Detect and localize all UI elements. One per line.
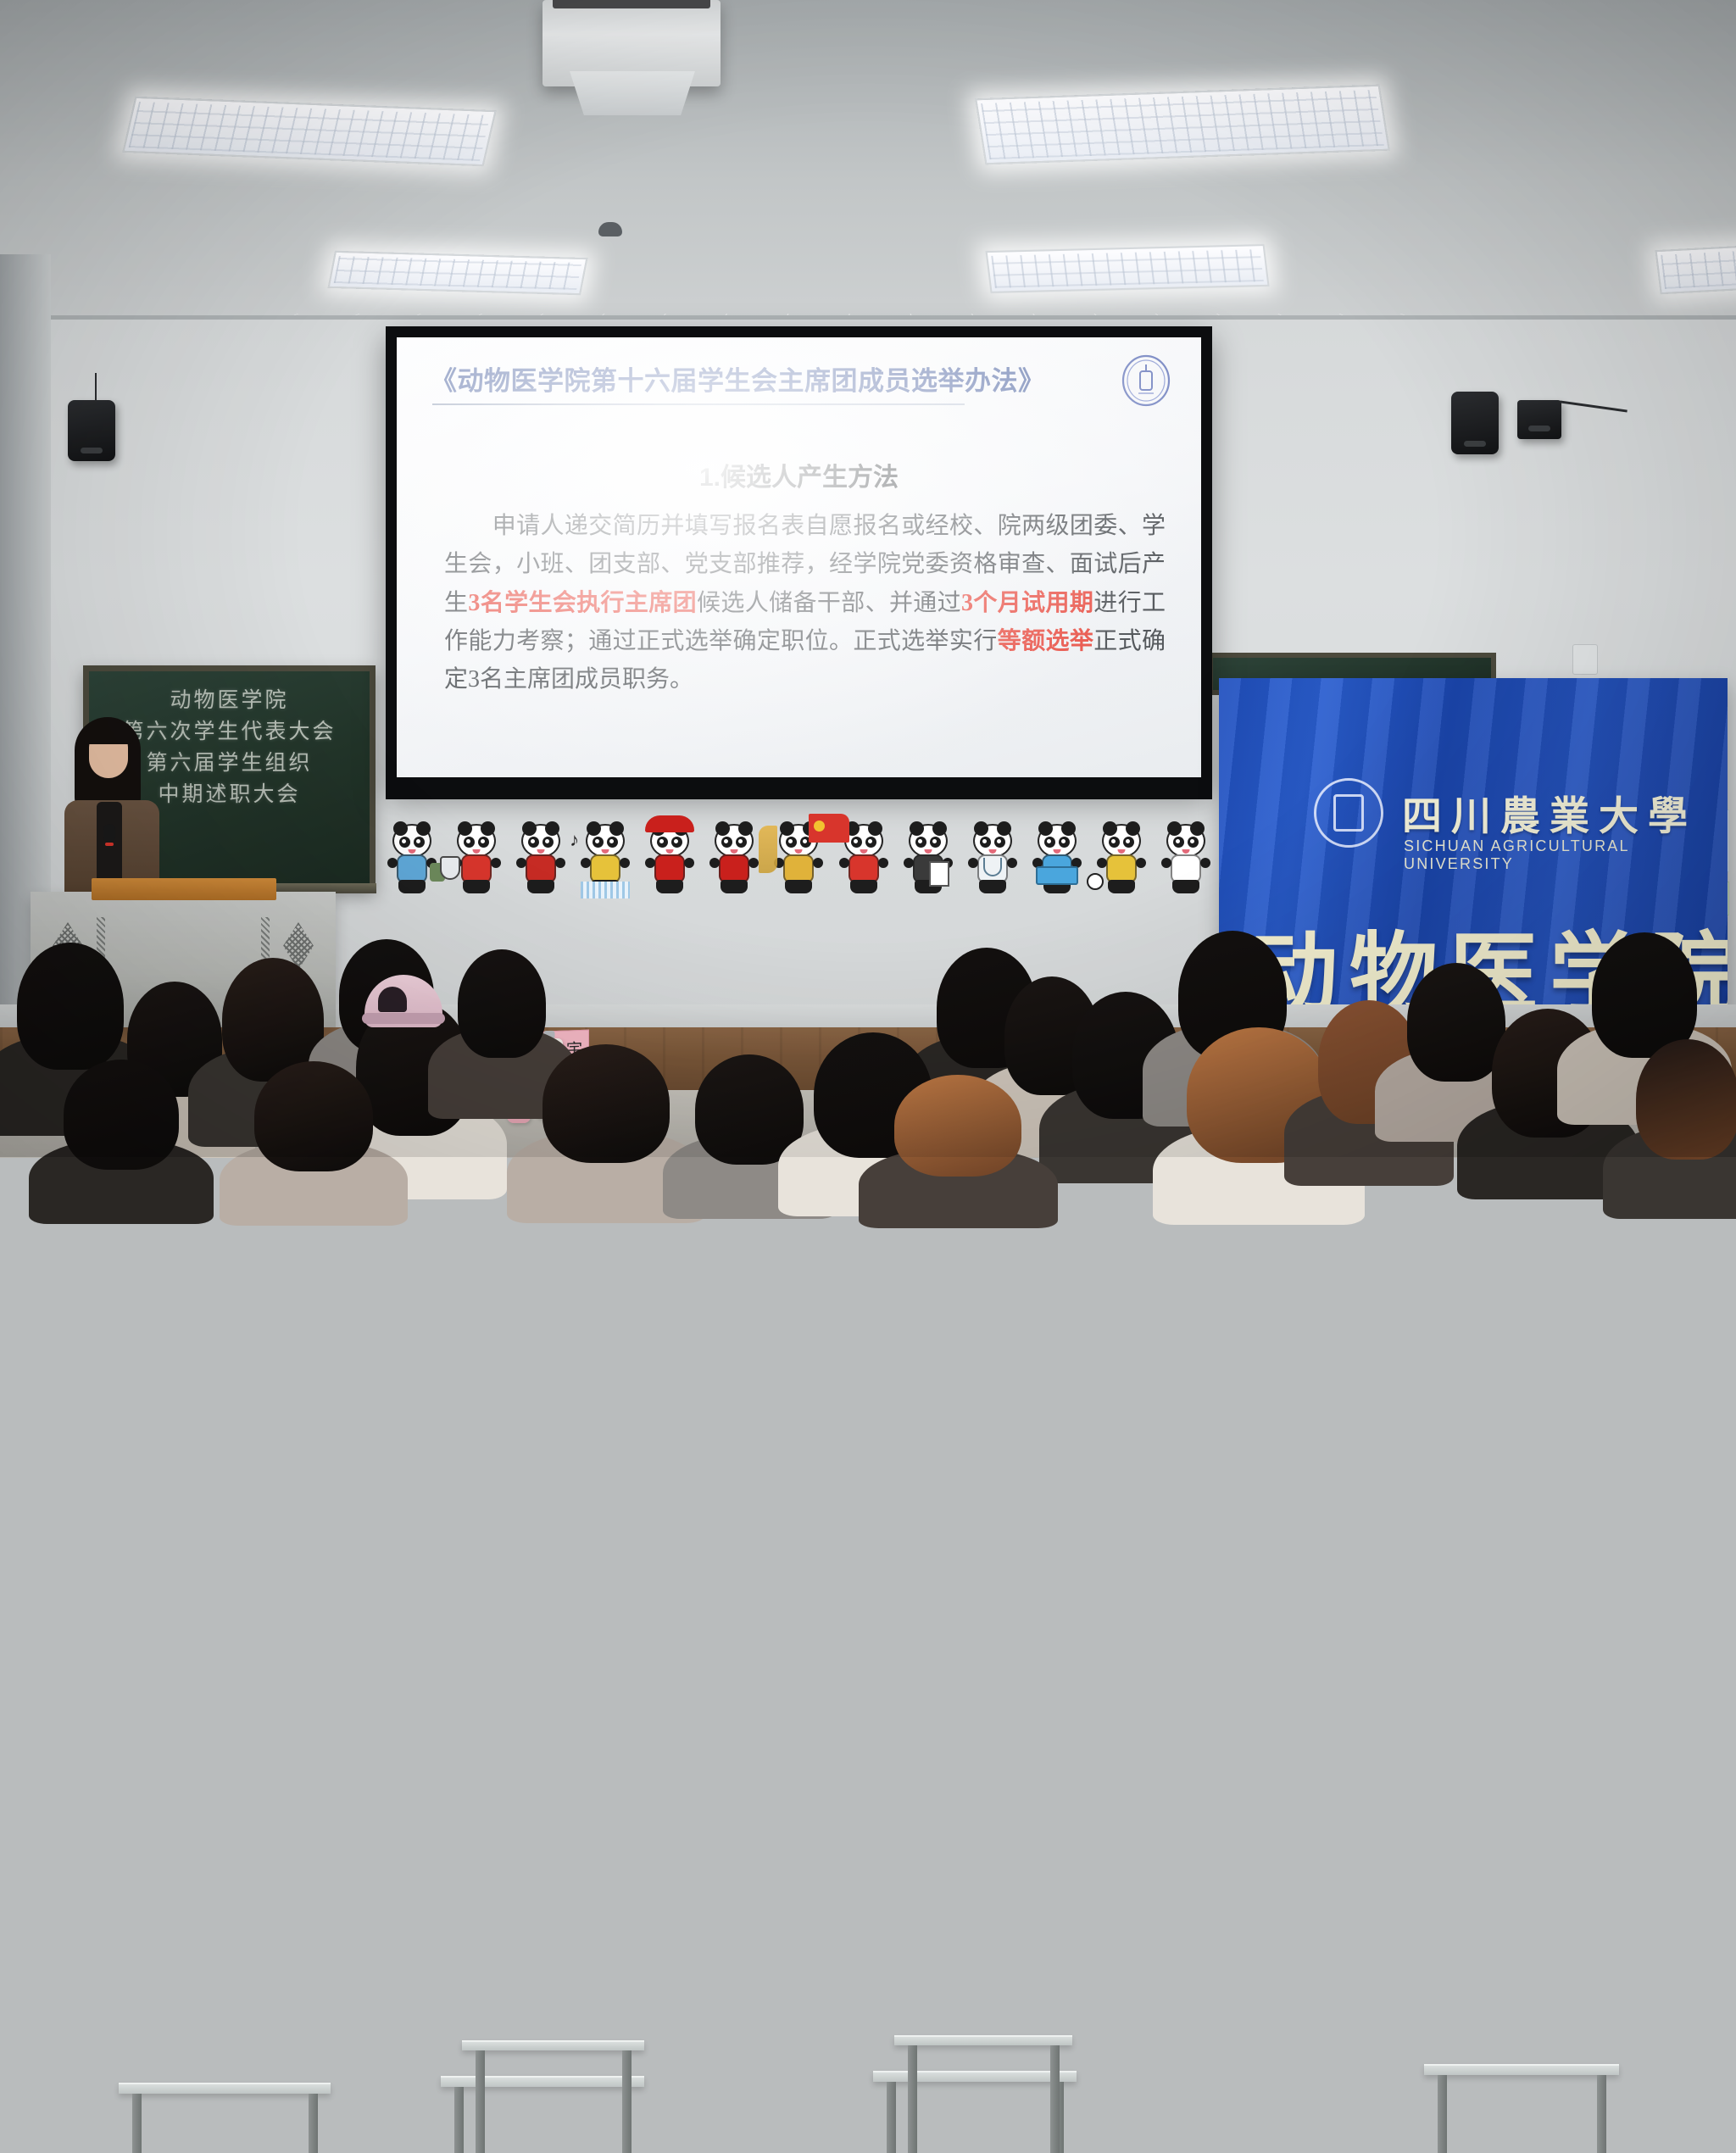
panda-head xyxy=(973,824,1012,858)
wall-speaker-left-icon xyxy=(68,400,115,461)
panda-red-uniform xyxy=(708,819,760,900)
panda-head xyxy=(586,824,625,858)
panda-mouth xyxy=(795,849,803,854)
panda-arm-right xyxy=(1007,858,1017,868)
panda-head xyxy=(457,824,496,858)
panda-dancer-stage xyxy=(579,819,632,900)
wall-speaker-right-a-icon xyxy=(1451,392,1499,454)
panda-eye-right xyxy=(930,837,941,848)
panda-eye-right xyxy=(671,837,682,848)
student-desk xyxy=(441,2076,644,2087)
panda-ear-left xyxy=(780,821,794,836)
audience-member-head xyxy=(17,943,124,1070)
banner-university-name-en: SICHUAN AGRICULTURAL UNIVERSITY xyxy=(1404,837,1728,873)
panda-eye-left xyxy=(1044,837,1055,848)
panda-mouth xyxy=(731,849,738,854)
projector-mount xyxy=(553,0,710,8)
panda-flag-bearer xyxy=(837,819,890,900)
projection-screen-frame: 《动物医学院第十六届学生会主席团成员选举办法》 1.候选人产生方法 申请人递交简… xyxy=(386,326,1212,788)
slide-body-segment-2: 候选人储备干部、并通过 xyxy=(697,590,961,616)
panda-document-holder xyxy=(902,819,954,900)
student-desk xyxy=(873,2071,1077,2082)
panda-mouth xyxy=(1117,849,1125,854)
panda-ear-left xyxy=(1167,821,1182,836)
desk-leg xyxy=(622,2050,632,2153)
panda-ear-right xyxy=(1126,821,1140,836)
panda-eye-left xyxy=(657,837,668,848)
panda-doctor-stethoscope xyxy=(966,819,1019,900)
panda-ear-right xyxy=(997,821,1011,836)
audience-member-head xyxy=(254,1061,373,1171)
projector-lens xyxy=(561,71,704,115)
panda-mouth xyxy=(666,849,674,854)
panda-book-reader xyxy=(1031,819,1083,900)
panda-eye-right xyxy=(1059,837,1070,848)
panda-legs xyxy=(850,880,877,893)
panda-mouth xyxy=(602,849,609,854)
panda-outfit xyxy=(1171,854,1201,883)
panda-eye-left xyxy=(1109,837,1120,848)
sichuan-agricultural-university-seal-icon xyxy=(1314,778,1383,848)
wall-ceiling-seam xyxy=(0,315,1736,320)
panda-ear-right xyxy=(481,821,495,836)
panda-red-cap-icon xyxy=(645,815,694,832)
desk-leg xyxy=(476,2050,485,2153)
panda-eye-left xyxy=(786,837,797,848)
wheat-ears-icon xyxy=(759,826,777,873)
panda-eye-left xyxy=(593,837,604,848)
desk-leg xyxy=(454,2087,464,2153)
panda-mouth xyxy=(988,849,996,854)
panda-eye-right xyxy=(542,837,554,848)
slide-title: 《动物医学院第十六届学生会主席团成员选举办法》 xyxy=(431,359,1045,398)
panda-eye-left xyxy=(721,837,732,848)
audience-member-head xyxy=(1636,1039,1736,1160)
panda-arm-left xyxy=(968,858,978,868)
panda-arm-left xyxy=(839,858,849,868)
panda-rights-shield-hero xyxy=(450,819,503,900)
panda-eye-left xyxy=(528,837,539,848)
panda-eye-left xyxy=(851,837,862,848)
panda-eye-right xyxy=(865,837,876,848)
panda-legs xyxy=(463,880,490,893)
panda-arm-right xyxy=(491,858,501,868)
panda-outfit xyxy=(783,854,814,883)
desk-leg xyxy=(887,2082,896,2153)
music-note-icon: ♪ xyxy=(570,829,579,851)
panda-outfit xyxy=(849,854,879,883)
slide-body-text: 申请人递交简历并填写报名表自愿报名或经校、院两级团委、学生会，小班、团支部、党支… xyxy=(444,507,1166,699)
panda-eye-left xyxy=(980,837,991,848)
panda-head xyxy=(1038,824,1077,858)
panda-eye-left xyxy=(399,837,410,848)
panda-arm-right xyxy=(813,858,823,868)
panda-head xyxy=(715,824,754,858)
panda-mouth xyxy=(537,849,545,854)
panda-ear-left xyxy=(587,821,601,836)
panda-ear-right xyxy=(868,821,882,836)
panda-arm-right xyxy=(684,858,694,868)
panda-outfit xyxy=(1106,854,1137,883)
banner-university-name-cn: 四川農業大學 xyxy=(1402,783,1697,842)
slide-title-rule xyxy=(432,403,965,405)
slide-body-segment-1: 3名学生会执行主席团 xyxy=(468,590,697,616)
panda-soccer-player xyxy=(1095,819,1148,900)
student-desk xyxy=(119,2083,331,2094)
panda-outfit xyxy=(397,854,427,883)
ceiling-troffer-5-icon xyxy=(1655,242,1736,294)
panda-arm-right xyxy=(1200,858,1210,868)
audience-member-head xyxy=(542,1044,670,1163)
audience-member-head xyxy=(64,1060,179,1170)
wall-speaker-right-b-icon xyxy=(1517,400,1561,439)
ceiling-projector xyxy=(542,0,721,86)
desk-leg xyxy=(1050,2045,1060,2153)
panda-mascot-cutout-row: ♪ xyxy=(386,807,1212,900)
panda-ear-right xyxy=(738,821,753,836)
audience-member-head xyxy=(894,1075,1021,1177)
blackboard-line-1: 动物医学院 xyxy=(89,685,370,716)
panda-head xyxy=(521,824,560,858)
panda-legs xyxy=(1172,880,1199,893)
projection-screen-bottom-bar xyxy=(386,781,1212,799)
ceiling-troffer-2-icon xyxy=(328,251,588,295)
red-flag-icon xyxy=(809,814,849,843)
panda-arm-right xyxy=(555,858,565,868)
panda-ear-left xyxy=(522,821,537,836)
desk-leg xyxy=(908,2045,917,2153)
panda-eye-right xyxy=(994,837,1005,848)
panda-eye-left xyxy=(464,837,475,848)
rights-shield-icon xyxy=(440,856,460,880)
lecture-hall-scene: 动物医学院 第六次学生代表大会 第六届学生组织 中期述职大会 《动物医学院第十六… xyxy=(0,0,1736,1157)
university-seal-emblem-icon xyxy=(1120,354,1172,407)
panda-outfit xyxy=(526,854,556,883)
panda-singer-music: ♪ xyxy=(515,819,567,900)
panda-arm-right xyxy=(620,858,630,868)
panda-red-cap-guard xyxy=(643,819,696,900)
panda-eye-left xyxy=(1173,837,1184,848)
slide-heading: 1.候选人产生方法 xyxy=(397,456,1201,493)
wall-outlet-icon xyxy=(1572,644,1598,675)
panda-mouth xyxy=(473,849,481,854)
panda-legs xyxy=(721,880,748,893)
panda-eye-right xyxy=(1123,837,1134,848)
panda-ear-left xyxy=(1103,821,1117,836)
ceiling xyxy=(0,0,1736,331)
stethoscope-icon xyxy=(983,858,1002,876)
panda-eye-right xyxy=(478,837,489,848)
projection-screen: 《动物医学院第十六届学生会主席团成员选举办法》 1.候选人产生方法 申请人递交简… xyxy=(397,337,1201,777)
panda-outfit xyxy=(719,854,749,883)
soccer-ball-icon xyxy=(1087,873,1104,890)
panda-arm-right xyxy=(1136,858,1146,868)
panda-mouth xyxy=(924,849,932,854)
panda-arm-left xyxy=(387,858,398,868)
student-desk xyxy=(1424,2064,1619,2075)
slide-body-segment-3: 3个月试用期 xyxy=(961,590,1093,616)
panda-legs xyxy=(979,880,1006,893)
panda-ear-left xyxy=(974,821,988,836)
panda-ear-left xyxy=(715,821,730,836)
panda-head xyxy=(392,824,431,858)
panda-eye-left xyxy=(915,837,926,848)
open-book-icon xyxy=(1036,866,1078,885)
panda-eye-right xyxy=(414,837,425,848)
panda-legs xyxy=(656,880,683,893)
panda-mouth xyxy=(409,849,416,854)
speaker-wire-left xyxy=(95,373,97,402)
panda-mouth xyxy=(1182,849,1189,854)
panda-ear-right xyxy=(545,821,559,836)
ceiling-troffer-1-icon xyxy=(122,97,496,167)
panda-eye-right xyxy=(1188,837,1199,848)
audience-member-head xyxy=(1407,963,1505,1082)
panda-ear-right xyxy=(1061,821,1076,836)
female-presenter xyxy=(61,717,163,899)
panda-ear-right xyxy=(416,821,431,836)
student-desk xyxy=(462,2040,644,2050)
dome-security-camera-icon xyxy=(598,222,622,236)
lectern-wood-top xyxy=(92,878,276,900)
panda-eye-right xyxy=(736,837,747,848)
panda-arm-left xyxy=(904,858,914,868)
panda-arm-left xyxy=(1161,858,1171,868)
panda-outfit xyxy=(461,854,492,883)
desk-leg xyxy=(309,2094,318,2153)
panda-eye-right xyxy=(607,837,618,848)
desk-leg xyxy=(132,2094,142,2153)
stage-platform-icon xyxy=(581,882,630,898)
panda-plain xyxy=(1160,819,1212,900)
panda-ear-right xyxy=(609,821,624,836)
panda-legs xyxy=(527,880,554,893)
panda-ear-right xyxy=(1190,821,1205,836)
panda-outfit xyxy=(654,854,685,883)
desk-leg xyxy=(1438,2075,1447,2153)
panda-arm-right xyxy=(748,858,759,868)
handheld-microphone-icon xyxy=(103,824,115,843)
panda-head xyxy=(1102,824,1141,858)
panda-ear-left xyxy=(458,821,472,836)
panda-mouth xyxy=(1053,849,1060,854)
panda-backpack-student xyxy=(386,819,438,900)
slide-body-segment-5: 等额选举 xyxy=(998,628,1094,654)
panda-head xyxy=(1166,824,1205,858)
panda-legs xyxy=(785,880,812,893)
document-icon xyxy=(929,861,949,887)
panda-arm-left xyxy=(1097,858,1107,868)
desk-leg xyxy=(1597,2075,1606,2153)
panda-ear-left xyxy=(910,821,924,836)
panda-legs xyxy=(398,880,426,893)
panda-mouth xyxy=(860,849,867,854)
panda-head xyxy=(909,824,948,858)
panda-ear-left xyxy=(393,821,408,836)
ceiling-troffer-3-icon xyxy=(975,85,1390,165)
student-desk xyxy=(894,2035,1072,2045)
panda-arm-right xyxy=(878,858,888,868)
audience-member-head xyxy=(458,949,546,1058)
panda-head xyxy=(844,824,883,858)
presenter-hair-fringe xyxy=(84,722,133,744)
panda-ear-left xyxy=(1038,821,1053,836)
ceiling-troffer-4-icon xyxy=(985,244,1269,293)
panda-legs xyxy=(1108,880,1135,893)
panda-outfit xyxy=(590,854,620,883)
panda-ear-right xyxy=(932,821,947,836)
